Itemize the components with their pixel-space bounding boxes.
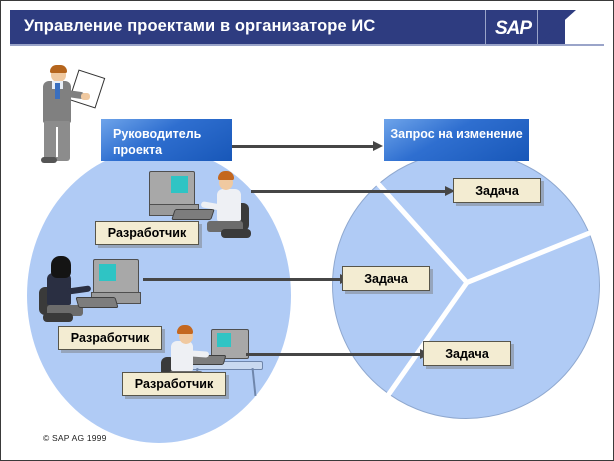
developer-hair (218, 171, 234, 180)
developer-label-box-3[interactable]: Разработчик (122, 372, 226, 396)
developer-label-3: Разработчик (135, 377, 213, 391)
developer-chair-seat (221, 229, 251, 238)
developer-label-box-2[interactable]: Разработчик (58, 326, 162, 350)
slide-canvas: Управление проектами в организаторе ИС S… (0, 0, 614, 461)
task-box-2[interactable]: Задача (342, 266, 430, 291)
manager-paper-icon (69, 69, 106, 108)
computer-screen (217, 333, 231, 347)
developer-hair (177, 325, 193, 334)
project-manager-label: Руководитель проекта (113, 127, 201, 157)
developer-hair (51, 256, 71, 278)
developer-label-box-1[interactable]: Разработчик (95, 221, 199, 245)
manager-tie (55, 83, 60, 99)
sap-logo-icon: SAP (485, 10, 605, 44)
computer-screen (99, 264, 116, 281)
developer-chair-seat (43, 313, 73, 322)
arrow-right-icon-dev2-to-task2 (143, 278, 341, 281)
change-request-box[interactable]: Запрос на изменение (384, 119, 529, 161)
arrow-right-icon-dev1-to-task1 (251, 190, 446, 193)
developer-at-computer-icon-2 (39, 255, 159, 327)
computer-keyboard (171, 209, 215, 220)
sap-logo-wedge (538, 10, 576, 44)
sap-logo-text: SAP (488, 19, 538, 38)
task-label-2: Задача (364, 272, 408, 286)
arrow-right-icon-dev3-to-task3 (246, 353, 421, 356)
task-box-1[interactable]: Задача (453, 178, 541, 203)
manager-hand (81, 93, 90, 100)
developer-label-1: Разработчик (108, 226, 186, 240)
task-label-1: Задача (475, 184, 519, 198)
pie-divider-right (466, 227, 600, 285)
desk-leg-right (252, 368, 257, 396)
manager-hair (50, 65, 67, 73)
copyright-footer: © SAP AG 1999 (43, 433, 107, 443)
developer-label-2: Разработчик (71, 331, 149, 345)
task-box-3[interactable]: Задача (423, 341, 511, 366)
standing-manager-icon (29, 67, 91, 163)
manager-leg-split (56, 127, 58, 157)
title-underline (10, 44, 604, 46)
project-manager-box[interactable]: Руководитель проекта (101, 119, 232, 161)
page-title: Управление проектами в организаторе ИС (24, 17, 375, 36)
computer-keyboard (75, 297, 118, 308)
manager-shoe (41, 157, 57, 163)
arrow-right-icon-manager-to-request (231, 145, 374, 148)
change-request-label: Запрос на изменение (390, 127, 522, 141)
task-label-3: Задача (445, 347, 489, 361)
computer-screen (171, 176, 188, 193)
title-bar: Управление проектами в организаторе ИС (10, 10, 565, 44)
